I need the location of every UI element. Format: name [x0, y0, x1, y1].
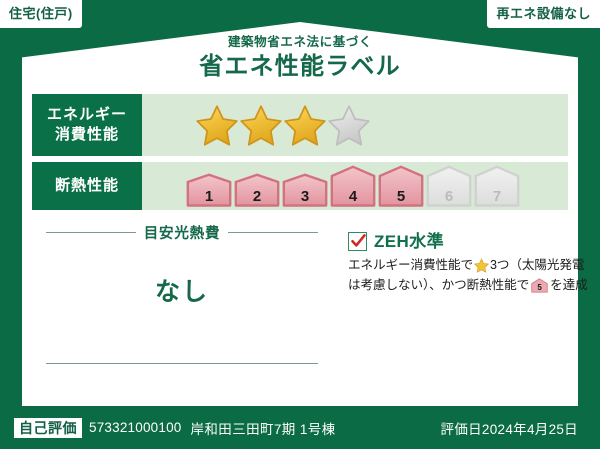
zeh-title: ZEH水準 [374, 233, 444, 250]
zeh-checkbox[interactable] [348, 232, 367, 251]
zeh-description-line1: エネルギー消費性能で 3つ（太陽光発電 [348, 256, 588, 276]
insulation-level-3: 3 [282, 173, 328, 207]
energy-performance-label: 住宅(住戸) 再エネ設備なし 建築物省エネ法に基づく 省エネ性能ラベル エネルギ… [0, 0, 600, 449]
utility-cost-section: 目安光熱費 なし [32, 216, 332, 366]
insulation-level-number: 7 [474, 189, 520, 204]
zeh-line2-text-a: は考慮しない）、かつ断熱性能で [348, 276, 529, 296]
heading-rule-right [228, 232, 318, 233]
utility-cost-heading: 目安光熱費 [46, 222, 318, 243]
zeh-line1-text-a: エネルギー消費性能で [348, 256, 473, 276]
zeh-line1-text-b: 3つ（太陽光発電 [490, 256, 584, 276]
star-icon-filled [196, 104, 238, 146]
zeh-description-line2: は考慮しない）、かつ断熱性能で 5 を達成 [348, 276, 588, 296]
lower-section: 目安光熱費 なし ZEH水準 エネルギー消費性能で [32, 216, 568, 366]
roof-shape [22, 22, 578, 90]
star-icon-empty [328, 104, 370, 146]
energy-performance-label: エネルギー 消費性能 [32, 94, 142, 156]
insulation-performance-row: 断熱性能 1234567 [32, 162, 568, 210]
insulation-level-number: 4 [330, 189, 376, 204]
insulation-level-7: 7 [474, 165, 520, 207]
insulation-level-number: 6 [426, 189, 472, 204]
energy-performance-row: エネルギー 消費性能 [32, 94, 568, 156]
utility-cost-bottom-rule [46, 363, 318, 364]
property-address: 岸和田三田町7期 1号棟 [191, 418, 336, 438]
utility-cost-heading-text: 目安光熱費 [144, 222, 221, 243]
insulation-performance-label: 断熱性能 [32, 162, 142, 210]
heading-rule-left [46, 232, 136, 233]
insulation-level-5: 5 [378, 165, 424, 207]
zeh-line2-text-b: を達成 [550, 276, 587, 296]
insulation-level-4: 4 [330, 165, 376, 207]
insulation-level-number: 2 [234, 189, 280, 204]
insulation-scale-wrap: 1234567 [142, 162, 568, 210]
zeh-header: ZEH水準 [348, 232, 588, 251]
insulation-level-number: 1 [186, 189, 232, 204]
energy-label-line1: エネルギー [47, 105, 127, 125]
star-icon-filled [284, 104, 326, 146]
tag-renewable-energy: 再エネ設備なし [487, 0, 600, 28]
label-card: エネルギー 消費性能 断熱性能 1234567 目安光熱費 なし [22, 86, 578, 406]
zeh-section: ZEH水準 エネルギー消費性能で 3つ（太陽光発電 は考慮しない）、かつ断熱性能… [332, 216, 592, 366]
energy-label-line2: 消費性能 [55, 125, 119, 145]
star-icon-filled [240, 104, 282, 146]
evaluation-date: 評価日2024年4月25日 [441, 418, 586, 438]
star-icon-inline [474, 258, 489, 273]
self-evaluation-badge: 自己評価 [14, 418, 82, 438]
tag-building-type: 住宅(住戸) [0, 0, 82, 28]
insulation-badge-inline: 5 [531, 278, 548, 293]
insulation-level-number: 3 [282, 189, 328, 204]
check-icon [350, 233, 367, 250]
insulation-level-6: 6 [426, 165, 472, 207]
label-id: 573321000100 [89, 420, 182, 435]
insulation-level-2: 2 [234, 173, 280, 207]
insulation-badge-inline-num: 5 [531, 284, 548, 292]
insulation-scale: 1234567 [186, 165, 522, 207]
insulation-level-number: 5 [378, 189, 424, 204]
star-rating [142, 94, 568, 156]
insulation-level-1: 1 [186, 173, 232, 207]
utility-cost-value: なし [46, 243, 318, 363]
footer-bar: 自己評価 573321000100 岸和田三田町7期 1号棟 評価日2024年4… [0, 406, 600, 449]
